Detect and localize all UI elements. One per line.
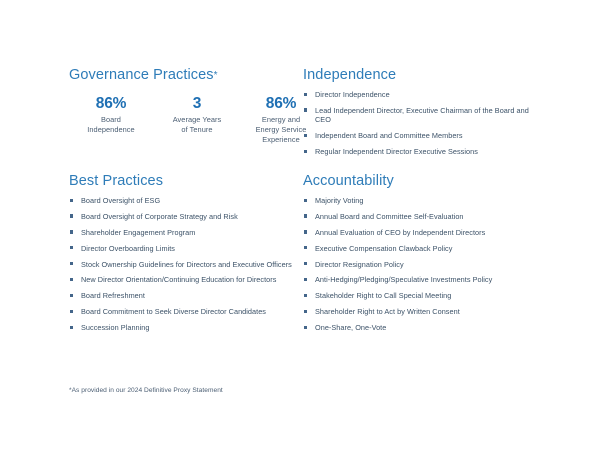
square-bullet-icon bbox=[70, 230, 73, 233]
governance-practices-section: Governance Practices* 86% Board Independ… bbox=[69, 66, 301, 146]
list-item-label: Board Oversight of ESG bbox=[81, 196, 160, 205]
list-item-label: Lead Independent Director, Executive Cha… bbox=[315, 106, 529, 125]
list-item-label: Regular Independent Director Executive S… bbox=[315, 147, 478, 156]
list-item: Director Independence bbox=[303, 90, 535, 100]
square-bullet-icon bbox=[304, 134, 307, 137]
list-item: Stakeholder Right to Call Special Meetin… bbox=[303, 291, 535, 301]
square-bullet-icon bbox=[304, 326, 307, 329]
independence-section: Independence Director Independence Lead … bbox=[303, 66, 535, 163]
list-item-label: One-Share, One-Vote bbox=[315, 323, 386, 332]
square-bullet-icon bbox=[70, 310, 73, 313]
governance-practices-asterisk: * bbox=[214, 70, 218, 81]
best-practices-section: Best Practices Board Oversight of ESG Bo… bbox=[69, 172, 301, 339]
list-item: Board Oversight of Corporate Strategy an… bbox=[69, 212, 301, 222]
list-item-label: Director Resignation Policy bbox=[315, 260, 404, 269]
list-item: Independent Board and Committee Members bbox=[303, 131, 535, 141]
list-item-label: Succession Planning bbox=[81, 323, 150, 332]
square-bullet-icon bbox=[70, 294, 73, 297]
footnote: *As provided in our 2024 Definitive Prox… bbox=[69, 386, 223, 395]
governance-overview-slide: Governance Practices* 86% Board Independ… bbox=[0, 0, 600, 463]
list-item-label: Stakeholder Right to Call Special Meetin… bbox=[315, 291, 451, 300]
stat-average-years-of-tenure: 3 Average Years of Tenure bbox=[157, 94, 237, 146]
square-bullet-icon bbox=[304, 246, 307, 249]
best-practices-list: Board Oversight of ESG Board Oversight o… bbox=[69, 196, 301, 333]
list-item-label: Board Commitment to Seek Diverse Directo… bbox=[81, 307, 266, 316]
list-item-label: Stock Ownership Guidelines for Directors… bbox=[81, 260, 292, 269]
list-item: Annual Board and Committee Self-Evaluati… bbox=[303, 212, 535, 222]
list-item: New Director Orientation/Continuing Educ… bbox=[69, 275, 301, 285]
square-bullet-icon bbox=[304, 150, 307, 153]
list-item: Board Oversight of ESG bbox=[69, 196, 301, 206]
square-bullet-icon bbox=[304, 278, 307, 281]
list-item-label: Shareholder Engagement Program bbox=[81, 228, 195, 237]
square-bullet-icon bbox=[70, 262, 73, 265]
list-item-label: Director Independence bbox=[315, 90, 390, 99]
square-bullet-icon bbox=[304, 294, 307, 297]
list-item: Director Overboarding Limits bbox=[69, 244, 301, 254]
governance-practices-heading-text: Governance Practices bbox=[69, 67, 214, 83]
list-item: Stock Ownership Guidelines for Directors… bbox=[69, 260, 301, 270]
square-bullet-icon bbox=[304, 262, 307, 265]
stat-board-independence: 86% Board Independence bbox=[75, 94, 147, 146]
governance-stats: 86% Board Independence 3 Average Years o… bbox=[69, 94, 301, 146]
independence-heading: Independence bbox=[303, 66, 535, 84]
list-item: Succession Planning bbox=[69, 323, 301, 333]
stat-label-line: Independence bbox=[75, 125, 147, 135]
list-item-label: Board Oversight of Corporate Strategy an… bbox=[81, 212, 238, 221]
list-item: Shareholder Engagement Program bbox=[69, 228, 301, 238]
square-bullet-icon bbox=[70, 214, 73, 217]
list-item: Lead Independent Director, Executive Cha… bbox=[303, 106, 535, 125]
list-item-label: Shareholder Right to Act by Written Cons… bbox=[315, 307, 460, 316]
list-item-label: Executive Compensation Clawback Policy bbox=[315, 244, 452, 253]
stat-label: Average Years of Tenure bbox=[157, 115, 237, 135]
stat-label: Board Independence bbox=[75, 115, 147, 135]
list-item-label: Annual Board and Committee Self-Evaluati… bbox=[315, 212, 464, 221]
accountability-section: Accountability Majority Voting Annual Bo… bbox=[303, 172, 535, 339]
stat-label-line: Average Years bbox=[157, 115, 237, 125]
independence-list: Director Independence Lead Independent D… bbox=[303, 90, 535, 157]
square-bullet-icon bbox=[304, 199, 307, 202]
square-bullet-icon bbox=[304, 108, 307, 111]
accountability-heading: Accountability bbox=[303, 172, 535, 190]
stat-label-line: Board bbox=[75, 115, 147, 125]
stat-label-line: of Tenure bbox=[157, 125, 237, 135]
list-item-label: New Director Orientation/Continuing Educ… bbox=[81, 275, 276, 284]
list-item-label: Anti-Hedging/Pledging/Speculative Invest… bbox=[315, 275, 492, 284]
best-practices-heading: Best Practices bbox=[69, 172, 301, 190]
square-bullet-icon bbox=[70, 199, 73, 202]
list-item: Executive Compensation Clawback Policy bbox=[303, 244, 535, 254]
list-item: Regular Independent Director Executive S… bbox=[303, 147, 535, 157]
square-bullet-icon bbox=[70, 246, 73, 249]
list-item: Shareholder Right to Act by Written Cons… bbox=[303, 307, 535, 317]
list-item: Board Commitment to Seek Diverse Directo… bbox=[69, 307, 301, 317]
list-item: Annual Evaluation of CEO by Independent … bbox=[303, 228, 535, 238]
stat-value: 86% bbox=[75, 94, 147, 113]
accountability-list: Majority Voting Annual Board and Committ… bbox=[303, 196, 535, 333]
square-bullet-icon bbox=[70, 278, 73, 281]
list-item-label: Annual Evaluation of CEO by Independent … bbox=[315, 228, 485, 237]
list-item-label: Majority Voting bbox=[315, 196, 363, 205]
list-item: Majority Voting bbox=[303, 196, 535, 206]
list-item-label: Director Overboarding Limits bbox=[81, 244, 175, 253]
square-bullet-icon bbox=[304, 214, 307, 217]
governance-practices-heading: Governance Practices* bbox=[69, 66, 301, 84]
list-item: Board Refreshment bbox=[69, 291, 301, 301]
list-item: Director Resignation Policy bbox=[303, 260, 535, 270]
stat-value: 3 bbox=[157, 94, 237, 113]
square-bullet-icon bbox=[70, 326, 73, 329]
square-bullet-icon bbox=[304, 93, 307, 96]
list-item: Anti-Hedging/Pledging/Speculative Invest… bbox=[303, 275, 535, 285]
square-bullet-icon bbox=[304, 310, 307, 313]
list-item-label: Board Refreshment bbox=[81, 291, 145, 300]
list-item-label: Independent Board and Committee Members bbox=[315, 131, 463, 140]
square-bullet-icon bbox=[304, 230, 307, 233]
list-item: One-Share, One-Vote bbox=[303, 323, 535, 333]
